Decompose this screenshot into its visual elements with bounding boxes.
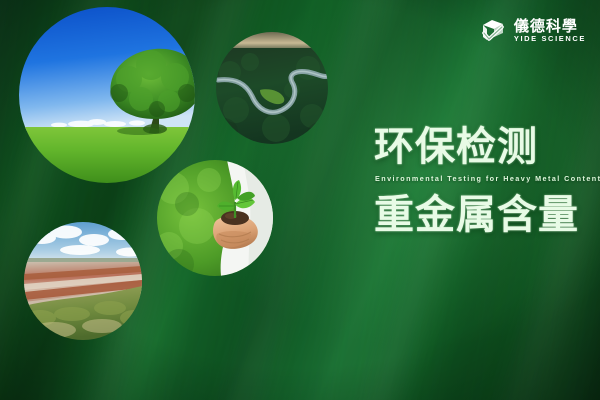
poster-canvas: 儀德科學 YIDE SCIENCE 环保检测 Environmental Tes… [0,0,600,400]
headline-title-line-1: 环保检测 [374,126,586,169]
checkmark-cube-logo-icon [478,16,508,46]
brand-logo: 儀德科學 YIDE SCIENCE [478,14,586,48]
brand-name-cn: 儀德科學 [514,19,586,35]
photo-hands-holding-seedling [157,160,273,276]
photo-aerial-river-forest [216,32,328,144]
photo-tree-in-green-field [19,7,195,183]
headline-block: 环保检测 Environmental Testing for Heavy Met… [374,126,586,237]
aerial-river-illustration [216,32,328,144]
brand-logo-text: 儀德科學 YIDE SCIENCE [514,19,586,44]
headline-title-line-2: 重金属含量 [374,194,586,237]
seedling-hands-illustration [157,160,273,276]
brand-name-en: YIDE SCIENCE [514,35,586,43]
tree-field-illustration [19,7,195,183]
headline-subtitle: Environmental Testing for Heavy Metal Co… [375,174,586,183]
photo-contaminated-water-landscape [24,222,142,340]
contaminated-water-illustration [24,222,142,340]
